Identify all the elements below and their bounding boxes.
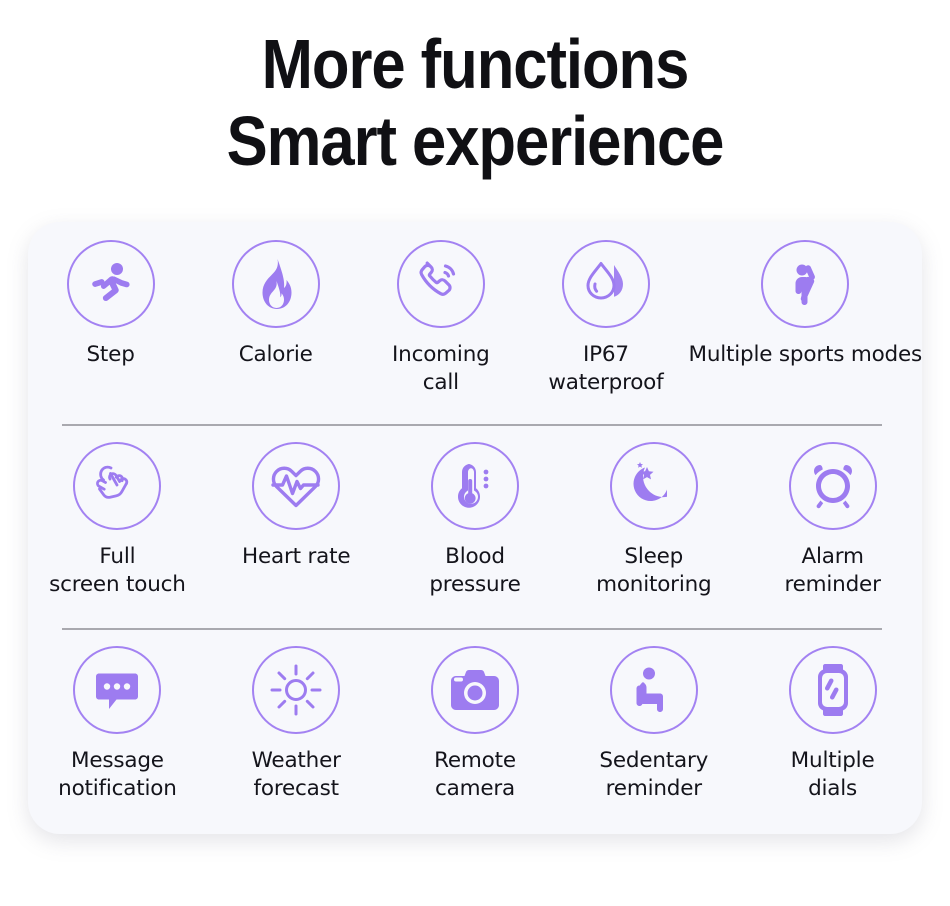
feature-item-weather-forecast[interactable]: Weather forecast — [207, 630, 386, 802]
feature-item-message-notification[interactable]: Message notification — [28, 630, 207, 802]
stretching-person-icon — [761, 240, 849, 328]
feature-label: Blood pressure — [429, 543, 520, 598]
feature-label: Weather forecast — [252, 747, 341, 802]
feature-label: Incoming call — [392, 341, 490, 396]
feature-item-ip67-waterproof[interactable]: IP67 waterproof — [523, 222, 688, 396]
feature-label: Alarm reminder — [784, 543, 880, 598]
flame-icon — [232, 240, 320, 328]
feature-label: Multiple dials — [791, 747, 875, 802]
feature-label: Full screen touch — [49, 543, 186, 598]
feature-item-sedentary-reminder[interactable]: Sedentary reminder — [564, 630, 743, 802]
feature-item-full-screen-touch[interactable]: Full screen touch — [28, 426, 207, 598]
thermometer-icon — [431, 442, 519, 530]
feature-label: Sedentary reminder — [599, 747, 708, 802]
feature-item-multiple-dials[interactable]: Multiple dials — [743, 630, 922, 802]
feature-row: Message notification — [28, 630, 922, 834]
moon-stars-icon — [610, 442, 698, 530]
feature-label: Step — [86, 341, 134, 369]
feature-item-multiple-sports-modes[interactable]: Multiple sports modes — [689, 222, 923, 369]
alarm-clock-icon — [789, 442, 877, 530]
feature-label: Multiple sports modes — [689, 341, 923, 369]
water-drop-icon — [562, 240, 650, 328]
feature-label: Message notification — [58, 747, 177, 802]
sun-icon — [252, 646, 340, 734]
page-title-line-1: More functions — [57, 30, 893, 99]
features-grid: Step Calorie — [28, 222, 922, 834]
speech-bubble-icon — [73, 646, 161, 734]
feature-row: Step Calorie — [28, 222, 922, 426]
heart-pulse-icon — [252, 442, 340, 530]
feature-item-calorie[interactable]: Calorie — [193, 222, 358, 369]
camera-icon — [431, 646, 519, 734]
feature-label: Calorie — [239, 341, 313, 369]
feature-item-blood-pressure[interactable]: Blood pressure — [386, 426, 565, 598]
sitting-person-icon — [610, 646, 698, 734]
feature-item-sleep-monitoring[interactable]: Sleep monitoring — [564, 426, 743, 598]
feature-row: Full screen touch Heart rate — [28, 426, 922, 630]
feature-item-remote-camera[interactable]: Remote camera — [386, 630, 565, 802]
feature-label: Sleep monitoring — [596, 543, 711, 598]
touch-hand-icon — [73, 442, 161, 530]
page-title: More functions Smart experience — [57, 0, 893, 177]
phone-call-icon — [397, 240, 485, 328]
feature-item-incoming-call[interactable]: Incoming call — [358, 222, 523, 396]
smartwatch-icon — [789, 646, 877, 734]
running-person-icon — [67, 240, 155, 328]
feature-item-step[interactable]: Step — [28, 222, 193, 369]
feature-label: Remote camera — [434, 747, 516, 802]
feature-label: IP67 waterproof — [548, 341, 663, 396]
page-title-line-2: Smart experience — [57, 107, 893, 176]
feature-item-alarm-reminder[interactable]: Alarm reminder — [743, 426, 922, 598]
features-card: Step Calorie — [28, 222, 922, 834]
feature-label: Heart rate — [242, 543, 350, 571]
feature-item-heart-rate[interactable]: Heart rate — [207, 426, 386, 571]
